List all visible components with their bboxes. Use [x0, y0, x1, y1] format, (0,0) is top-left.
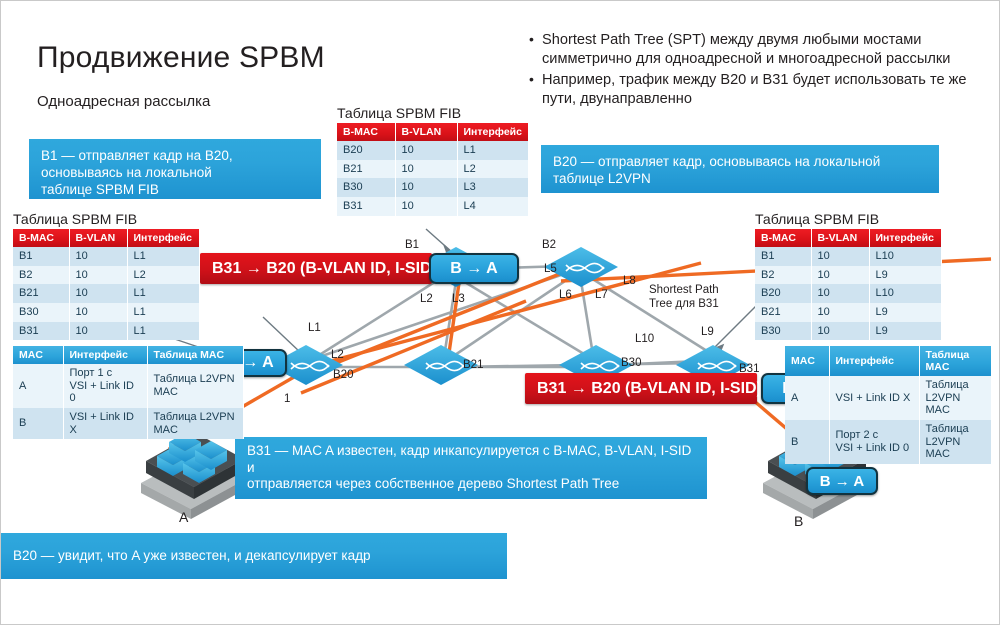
table-row: B2110L1 [13, 284, 199, 303]
table-fib-top-title: Таблица SPBM FIB [337, 105, 529, 121]
frame-banner-bottom: B31 → B20 (B-VLAN ID, I-SID) [525, 373, 757, 404]
node-label-b21: B21 [463, 359, 483, 371]
cell-interface: L1 [457, 141, 528, 160]
cell-b-mac: B30 [755, 322, 811, 341]
bullet-list: Shortest Path Tree (SPT) между двумя люб… [529, 31, 981, 111]
table-fib-right-title: Таблица SPBM FIB [755, 211, 942, 227]
table-fib-top-grid: B-MAC B-VLAN Интерфейс B2010L1 B2110L2 B… [337, 123, 529, 216]
table-mac-right: MAC Интерфейс Таблица MAC AVSI + Link ID… [785, 346, 992, 464]
cell-b-vlan: 10 [69, 284, 127, 303]
cell-b-vlan: 10 [69, 303, 127, 322]
table-row: B210L2 [13, 266, 199, 285]
node-label-b20: B20 [333, 369, 353, 381]
cell-interface: L10 [869, 284, 941, 303]
cell-interface: L1 [127, 247, 199, 266]
table-row: B3010L1 [13, 303, 199, 322]
col-mac: MAC [785, 346, 829, 376]
cell-mac-table: Таблица L2VPN MAC [919, 376, 991, 420]
cell-b-mac: B2 [755, 266, 811, 285]
col-b-vlan: B-VLAN [395, 123, 457, 141]
table-fib-right: Таблица SPBM FIB B-MAC B-VLAN Интерфейс … [755, 211, 942, 340]
host-label-b: B [794, 513, 803, 529]
table-row-header: MAC Интерфейс Таблица MAC [13, 346, 243, 364]
cell-mac-table: Таблица L2VPN MAC [919, 420, 991, 464]
cell-b-vlan: 10 [69, 322, 127, 341]
table-row: B110L1 [13, 247, 199, 266]
cell-interface: L9 [869, 322, 941, 341]
cell-b-mac: B2 [13, 266, 69, 285]
table-row-header: B-MAC B-VLAN Интерфейс [337, 123, 528, 141]
cell-mac-table: Таблица L2VPN MAC [147, 408, 243, 439]
cell-interface: L9 [869, 266, 941, 285]
node-label-b31: B31 [739, 363, 759, 375]
link-label-l7: L7 [595, 289, 608, 301]
cell-interface: Порт 2 с VSI + Link ID 0 [829, 420, 919, 464]
cell-b-mac: B20 [337, 141, 395, 160]
col-b-mac: B-MAC [337, 123, 395, 141]
cell-b-vlan: 10 [69, 247, 127, 266]
cell-interface: L3 [457, 178, 528, 197]
table-mac-left-grid: MAC Интерфейс Таблица MAC AПорт 1 с VSI … [13, 346, 244, 439]
cell-b-mac: B21 [337, 160, 395, 179]
table-row-header: MAC Интерфейс Таблица MAC [785, 346, 991, 376]
cell-b-vlan: 10 [395, 178, 457, 197]
cell-interface: L1 [127, 284, 199, 303]
table-row: B110L10 [755, 247, 941, 266]
link-label-l1: L1 [308, 322, 321, 334]
table-row: BПорт 2 с VSI + Link ID 0Таблица L2VPN M… [785, 420, 991, 464]
table-row: B3110L4 [337, 197, 528, 216]
col-mac-table: Таблица MAC [147, 346, 243, 364]
cell-b-vlan: 10 [811, 266, 869, 285]
link-label-l2-left: L2 [331, 349, 344, 361]
cell-mac: A [13, 364, 63, 408]
callout-b31-mac-known: B31 — MAC A известен, кадр инкапсулирует… [235, 437, 707, 499]
frame-banner-top: B31 → B20 (B-VLAN ID, I-SID) [200, 253, 432, 284]
col-mac: MAC [13, 346, 63, 364]
col-b-mac: B-MAC [13, 229, 69, 247]
table-fib-right-grid: B-MAC B-VLAN Интерфейс B110L10 B210L9 B2… [755, 229, 942, 340]
cell-b-mac: B21 [13, 284, 69, 303]
col-interface: Интерфейс [63, 346, 147, 364]
cell-interface: L4 [457, 197, 528, 216]
cell-interface: Порт 1 с VSI + Link ID 0 [63, 364, 147, 408]
table-fib-top: Таблица SPBM FIB B-MAC B-VLAN Интерфейс … [337, 105, 529, 216]
cell-interface: L1 [127, 322, 199, 341]
cell-b-mac: B31 [337, 197, 395, 216]
cell-b-vlan: 10 [811, 247, 869, 266]
cell-mac: B [785, 420, 829, 464]
col-b-vlan: B-VLAN [811, 229, 869, 247]
callout-b20-decapsulate: B20 — увидит, что A уже известен, и дека… [1, 533, 507, 579]
col-b-vlan: B-VLAN [69, 229, 127, 247]
chip-b-to-a-host-b: B → A [806, 467, 878, 495]
table-fib-left-title: Таблица SPBM FIB [13, 211, 200, 227]
cell-mac: B [13, 408, 63, 439]
link-label-l2-mid: L2 [420, 293, 433, 305]
table-row: B2010L1 [337, 141, 528, 160]
cell-b-vlan: 10 [811, 322, 869, 341]
table-row: B210L9 [755, 266, 941, 285]
cell-b-mac: B31 [13, 322, 69, 341]
cell-b-mac: B21 [755, 303, 811, 322]
table-fib-left: Таблица SPBM FIB B-MAC B-VLAN Интерфейс … [13, 211, 200, 340]
table-row: B2110L9 [755, 303, 941, 322]
unicast-section-label: Одноадресная рассылка [37, 93, 210, 110]
cell-interface: VSI + Link ID X [829, 376, 919, 420]
cell-interface: L1 [127, 303, 199, 322]
spt-annotation: Shortest Path Tree для B31 [649, 284, 719, 312]
bullet-item-2: Например, трафик между B20 и B31 будет и… [529, 71, 981, 109]
table-row: B3110L1 [13, 322, 199, 341]
node-label-b30: B30 [621, 357, 641, 369]
link-label-l8: L8 [623, 275, 636, 287]
col-b-mac: B-MAC [755, 229, 811, 247]
table-row: B2110L2 [337, 160, 528, 179]
col-interface: Интерфейс [127, 229, 199, 247]
host-label-a: A [179, 509, 188, 525]
bullet-item-1: Shortest Path Tree (SPT) между двумя люб… [529, 31, 981, 69]
cell-b-mac: B1 [755, 247, 811, 266]
cell-b-vlan: 10 [69, 266, 127, 285]
table-mac-right-grid: MAC Интерфейс Таблица MAC AVSI + Link ID… [785, 346, 992, 464]
col-interface: Интерфейс [457, 123, 528, 141]
cell-b-vlan: 10 [811, 284, 869, 303]
cell-b-mac: B20 [755, 284, 811, 303]
cell-b-mac: B30 [13, 303, 69, 322]
cell-interface: L2 [127, 266, 199, 285]
table-row: B3010L3 [337, 178, 528, 197]
col-interface: Интерфейс [829, 346, 919, 376]
link-label-port-1: 1 [284, 393, 290, 405]
node-label-b1: B1 [405, 239, 419, 251]
table-row: B3010L9 [755, 322, 941, 341]
table-row: BVSI + Link ID XТаблица L2VPN MAC [13, 408, 243, 439]
table-fib-left-grid: B-MAC B-VLAN Интерфейс B110L1 B210L2 B21… [13, 229, 200, 340]
table-row: AПорт 1 с VSI + Link ID 0Таблица L2VPN M… [13, 364, 243, 408]
link-label-l10: L10 [635, 333, 654, 345]
cell-b-vlan: 10 [395, 141, 457, 160]
page-title: Продвижение SPBM [37, 41, 325, 75]
table-row-header: B-MAC B-VLAN Интерфейс [755, 229, 941, 247]
table-row-header: B-MAC B-VLAN Интерфейс [13, 229, 199, 247]
link-label-l5: L5 [544, 263, 557, 275]
col-interface: Интерфейс [869, 229, 941, 247]
slide-canvas: Продвижение SPBM Одноадресная рассылка S… [0, 0, 1000, 625]
cell-b-vlan: 10 [811, 303, 869, 322]
host-a-server [141, 433, 246, 519]
callout-b20-send: B20 — отправляет кадр, основываясь на ло… [541, 145, 939, 193]
cell-interface: VSI + Link ID X [63, 408, 147, 439]
col-mac-table: Таблица MAC [919, 346, 991, 376]
link-label-l9: L9 [701, 326, 714, 338]
cell-b-vlan: 10 [395, 160, 457, 179]
node-label-b2: B2 [542, 239, 556, 251]
cell-mac: A [785, 376, 829, 420]
cell-interface: L10 [869, 247, 941, 266]
table-mac-left: MAC Интерфейс Таблица MAC AПорт 1 с VSI … [13, 346, 244, 439]
cell-b-vlan: 10 [395, 197, 457, 216]
table-row: AVSI + Link ID XТаблица L2VPN MAC [785, 376, 991, 420]
cell-interface: L9 [869, 303, 941, 322]
chip-b-to-a-top: B → A [429, 253, 519, 284]
cell-mac-table: Таблица L2VPN MAC [147, 364, 243, 408]
callout-b1-send: B1 — отправляет кадр на B20, основываясь… [29, 139, 321, 199]
cell-interface: L2 [457, 160, 528, 179]
table-row: B2010L10 [755, 284, 941, 303]
cell-b-mac: B1 [13, 247, 69, 266]
link-label-l6: L6 [559, 289, 572, 301]
cell-b-mac: B30 [337, 178, 395, 197]
link-label-l3: L3 [452, 293, 465, 305]
